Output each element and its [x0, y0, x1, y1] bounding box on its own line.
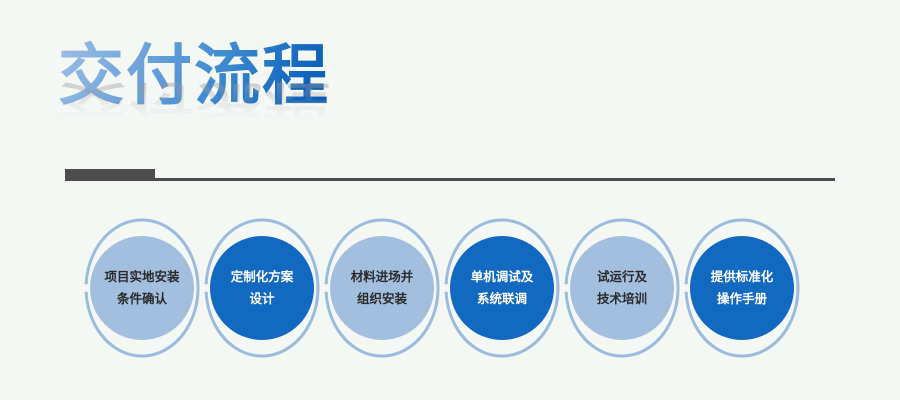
step-circle-1[interactable]	[90, 236, 194, 340]
flow-diagram-svg	[0, 208, 900, 368]
title-block: 交付流程 交付流程	[58, 38, 478, 158]
step-circle-5[interactable]	[570, 236, 674, 340]
step-circle-4[interactable]	[450, 236, 554, 340]
page-title-reflection: 交付流程	[60, 78, 332, 124]
flow-nodes	[90, 236, 794, 340]
divider-rule	[65, 178, 835, 181]
delivery-process-flow: 项目实地安装条件确认定制化方案设计材料进场并组织安装单机调试及系统联调试运行及技…	[0, 208, 900, 368]
step-circle-6[interactable]	[690, 236, 794, 340]
infographic-canvas: 交付流程 交付流程 项目实地安装条件确认定制化方案设计材料进场并组织安装单机调试…	[0, 0, 900, 400]
step-circle-3[interactable]	[330, 236, 434, 340]
step-circle-2[interactable]	[210, 236, 314, 340]
divider	[65, 169, 835, 181]
